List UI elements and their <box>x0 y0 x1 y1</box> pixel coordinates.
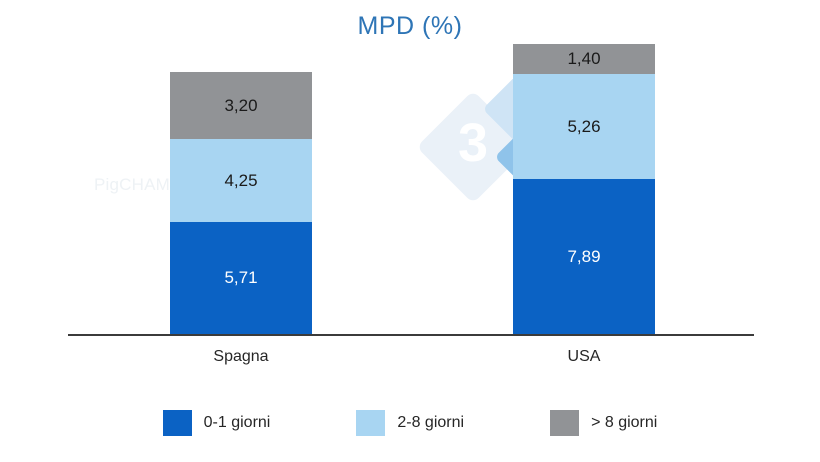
legend-label-0-1-giorni: 0-1 giorni <box>204 414 271 432</box>
bar-value-gt8-spagna: 3,20 <box>224 96 257 116</box>
chart-legend: 0-1 giorni 2-8 giorni > 8 giorni <box>0 410 820 436</box>
legend-swatch-2-8-giorni <box>356 410 385 436</box>
legend-label-gt-8-giorni: > 8 giorni <box>591 414 657 432</box>
bar-segment-2-8-usa[interactable]: 5,26 <box>513 74 655 179</box>
bar-segment-2-8-spagna[interactable]: 4,25 <box>170 139 312 222</box>
bar-value-2-8-spagna: 4,25 <box>224 171 257 191</box>
legend-item-0-1-giorni[interactable]: 0-1 giorni <box>163 410 271 436</box>
legend-swatch-gt-8-giorni <box>550 410 579 436</box>
x-axis-line <box>68 334 754 336</box>
plot-area: 3,20 4,25 5,71 Spagna 1,40 5,26 <box>0 0 820 462</box>
bar-value-2-8-usa: 5,26 <box>567 117 600 137</box>
bar-segment-gt8-spagna[interactable]: 3,20 <box>170 72 312 139</box>
chart-container: 3 3 3 PigCHAMP Pro Europa MPD (%) <box>0 0 820 462</box>
category-label-usa: USA <box>513 348 655 366</box>
bar-value-0-1-spagna: 5,71 <box>224 268 257 288</box>
bar-segment-0-1-usa[interactable]: 7,89 <box>513 179 655 334</box>
bar-segment-gt8-usa[interactable]: 1,40 <box>513 44 655 74</box>
legend-item-2-8-giorni[interactable]: 2-8 giorni <box>356 410 464 436</box>
stacked-bar-spagna[interactable]: 3,20 4,25 5,71 <box>170 72 312 334</box>
category-label-spagna: Spagna <box>170 348 312 366</box>
bar-value-0-1-usa: 7,89 <box>567 247 600 267</box>
legend-label-2-8-giorni: 2-8 giorni <box>397 414 464 432</box>
bar-segment-0-1-spagna[interactable]: 5,71 <box>170 222 312 334</box>
legend-swatch-0-1-giorni <box>163 410 192 436</box>
legend-item-gt-8-giorni[interactable]: > 8 giorni <box>550 410 657 436</box>
stacked-bar-usa[interactable]: 1,40 5,26 7,89 <box>513 44 655 334</box>
bar-value-gt8-usa: 1,40 <box>567 49 600 69</box>
